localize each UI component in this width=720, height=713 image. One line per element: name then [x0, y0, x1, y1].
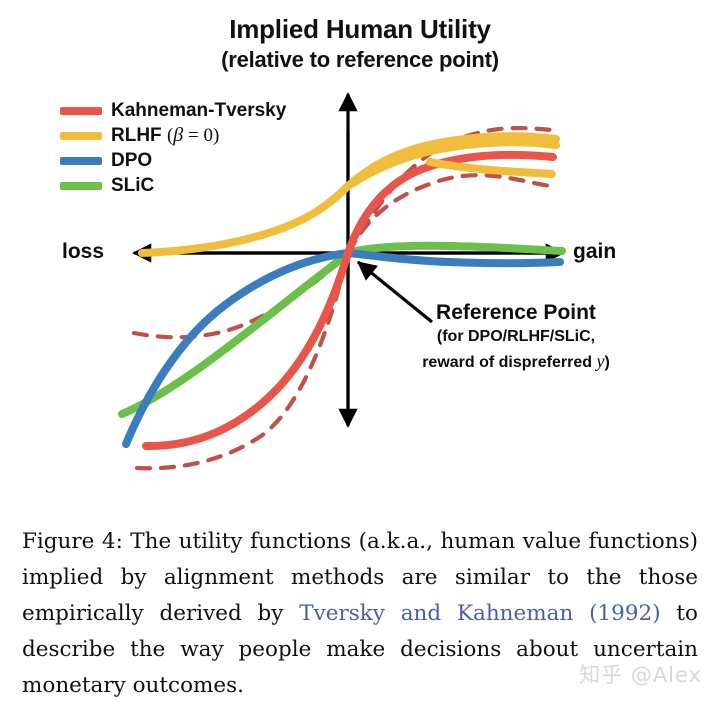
figure-caption: Figure 4: The utility functions (a.k.a.,… — [22, 524, 698, 704]
citation-link-year[interactable]: (1992) — [589, 601, 661, 626]
reference-point-line3: reward of dispreferred y) — [382, 349, 650, 375]
reference-point-title: Reference Point — [382, 300, 650, 325]
reference-point-line3-suffix: ) — [604, 354, 609, 371]
figure-panel: Implied Human Utility (relative to refer… — [0, 0, 720, 510]
reference-point-line2: (for DPO/RLHF/SLiC, — [382, 325, 650, 349]
utility-plot — [0, 0, 720, 510]
caption-segment-2 — [573, 601, 589, 626]
series-rlhf-right — [430, 162, 552, 174]
citation-link-tversky-kahneman[interactable]: Tversky and Kahneman — [299, 601, 573, 626]
reference-point-line3-prefix: reward of dispreferred — [422, 354, 596, 371]
reference-point-annotation: Reference Point (for DPO/RLHF/SLiC, rewa… — [382, 300, 650, 375]
kahneman-tversky-bands — [134, 128, 553, 468]
